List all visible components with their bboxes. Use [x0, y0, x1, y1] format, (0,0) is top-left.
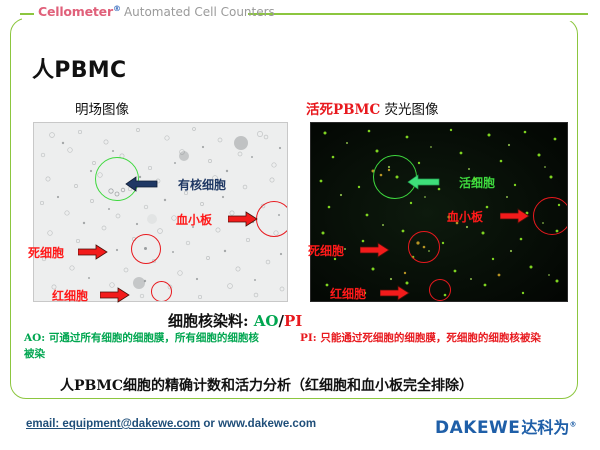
- fluorescence-panel-heading: 活死PBMC 荧光图像: [306, 98, 439, 118]
- dakewe-logo-registered-mark: ®: [569, 421, 576, 429]
- right-arrow-red-icon-dead-right: [360, 242, 390, 258]
- right-arrow-red-icon-platelet-left: [228, 211, 258, 227]
- label-nucleated-cell: 有核细胞: [178, 176, 226, 193]
- dakewe-logo-en: DAKEWE: [435, 418, 520, 438]
- frame-top-gap-right: [250, 16, 580, 21]
- email-link[interactable]: email: equipment@dakewe.com: [26, 418, 200, 430]
- platelet-circle-fluor: [533, 197, 568, 235]
- header-rule-left: [20, 13, 34, 15]
- stain-pi-label: PI: [284, 312, 302, 330]
- label-live-cell: 活细胞: [459, 174, 495, 191]
- label-platelet-left: 血小板: [176, 211, 212, 228]
- left-arrow-navy-icon: [124, 176, 158, 192]
- brightfield-panel-heading: 明场图像: [75, 98, 129, 118]
- header-rule-right: [248, 13, 588, 15]
- right-arrow-red-icon-rbc-right: [380, 285, 410, 301]
- pi-description: PI: 只能通过死细胞的细胞膜，死细胞的细胞核被染: [300, 331, 550, 347]
- left-arrow-green-icon: [406, 174, 440, 190]
- label-red-blood-cell-left: 红细胞: [52, 287, 88, 304]
- nuclear-stain-prefix: 细胞核染料:: [168, 312, 249, 330]
- frame-top-gap-left: [22, 16, 250, 21]
- stain-ao-label: AO: [254, 312, 279, 330]
- dakewe-logo-cn: 达科为: [521, 418, 569, 437]
- label-red-blood-cell-right: 红细胞: [330, 285, 366, 302]
- red-blood-cell-circle-fluor: [429, 279, 451, 301]
- nuclear-stain-line: 细胞核染料: AO/PI: [168, 310, 302, 331]
- fluorescence-heading-black: 荧光图像: [385, 102, 439, 118]
- ao-description: AO: 可通过所有细胞的细胞膜，所有细胞的细胞核被染: [24, 331, 264, 363]
- conclusion-text: 人PBMC细胞的精确计数和活力分析（红细胞和血小板完全排除）: [60, 375, 473, 395]
- label-platelet-right: 血小板: [447, 208, 483, 225]
- right-arrow-red-icon-platelet-right: [500, 208, 530, 224]
- right-arrow-red-icon-rbc-left: [100, 287, 130, 303]
- footer-contact[interactable]: email: equipment@dakewe.com or www.dakew…: [26, 418, 316, 430]
- dead-cell-dot: [144, 247, 147, 250]
- label-dead-cell-left: 死细胞: [28, 244, 64, 261]
- red-blood-cell-circle: [151, 281, 172, 302]
- label-dead-cell-right: 死细胞: [308, 242, 344, 259]
- brand-registered-mark: ®: [113, 4, 121, 13]
- dakewe-logo: DAKEWE达科为®: [435, 414, 576, 438]
- dead-cell-circle-fluor: [408, 231, 440, 263]
- fluorescence-heading-red: 活死PBMC: [306, 102, 380, 118]
- platelet-circle: [256, 201, 288, 237]
- page-title: 人PBMC: [32, 52, 126, 84]
- website-text[interactable]: or www.dakewe.com: [200, 418, 316, 430]
- right-arrow-red-icon-dead-left: [78, 244, 108, 260]
